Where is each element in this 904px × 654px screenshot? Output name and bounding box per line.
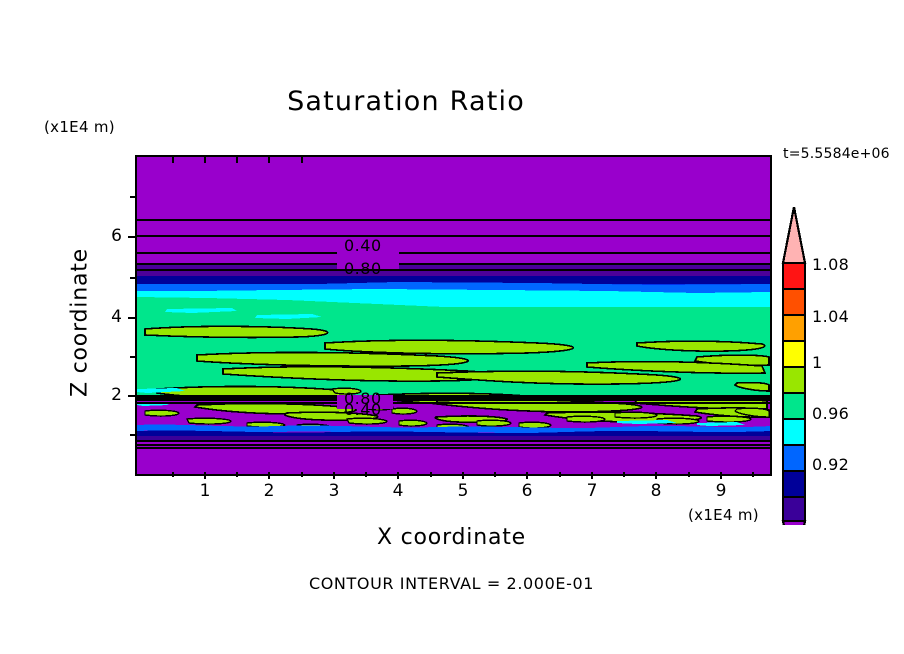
x-tick-minor bbox=[559, 472, 561, 477]
x-tick-label: 6 bbox=[512, 481, 542, 501]
colorbar-label: 1.04 bbox=[812, 307, 849, 326]
colorbar-under-arrow bbox=[783, 521, 805, 525]
x-tick-7 bbox=[591, 472, 593, 479]
x-tick-label: 9 bbox=[706, 481, 736, 501]
x-tick-minor bbox=[623, 472, 625, 477]
y-tick-label: 2 bbox=[96, 385, 122, 405]
x-tick-8 bbox=[655, 472, 657, 479]
x-axis-unit-label: (x1E4 m) bbox=[688, 506, 759, 524]
y-tick-minor bbox=[130, 196, 135, 198]
x-tick-minor bbox=[752, 472, 754, 477]
x-tick-minor bbox=[365, 472, 367, 477]
x-tick-3 bbox=[333, 472, 335, 479]
y-tick-label: 6 bbox=[96, 226, 122, 246]
page-title: Saturation Ratio bbox=[0, 86, 858, 117]
contour-label-upper-080: 0.80 bbox=[344, 259, 382, 278]
y-tick-4 bbox=[128, 317, 135, 319]
contour-label-upper-040: 0.40 bbox=[344, 236, 382, 255]
x-tick-minor bbox=[688, 472, 690, 477]
x-tick-minor bbox=[172, 472, 174, 477]
x-tick-5 bbox=[462, 472, 464, 479]
y-tick-2 bbox=[128, 395, 135, 397]
x-tick-top bbox=[301, 157, 303, 163]
contour-label-lower-040: 0.40 bbox=[344, 400, 382, 419]
y-tick-minor bbox=[130, 277, 135, 279]
y-axis-unit-label: (x1E4 m) bbox=[44, 118, 115, 136]
x-tick-label: 5 bbox=[448, 481, 478, 501]
colorbar-label: 1.08 bbox=[812, 255, 849, 274]
contour-plot-figure: Saturation Ratio (x1E4 m) (x1E4 m) t=5.5… bbox=[0, 0, 904, 654]
colorbar bbox=[781, 207, 809, 529]
x-tick-label: 3 bbox=[319, 481, 349, 501]
x-tick-label: 2 bbox=[254, 481, 284, 501]
x-tick-top bbox=[236, 157, 238, 163]
x-tick-6 bbox=[526, 472, 528, 479]
x-tick-9 bbox=[720, 472, 722, 479]
x-tick-minor bbox=[430, 472, 432, 477]
x-tick-4 bbox=[397, 472, 399, 479]
contour-field: 0.40 0.80 0.80 0.40 bbox=[137, 157, 770, 474]
x-tick-minor bbox=[236, 472, 238, 477]
colorbar-over-arrow bbox=[783, 207, 805, 263]
x-tick-label: 8 bbox=[641, 481, 671, 501]
x-tick-label: 4 bbox=[383, 481, 413, 501]
y-tick-label: 4 bbox=[96, 307, 122, 327]
colorbar-label: 0.92 bbox=[812, 455, 849, 474]
x-axis-title: X coordinate bbox=[135, 525, 768, 550]
x-tick-top bbox=[172, 157, 174, 163]
x-tick-top bbox=[204, 157, 206, 163]
x-tick-label: 7 bbox=[577, 481, 607, 501]
time-stamp-label: t=5.5584e+06 bbox=[783, 146, 890, 162]
contour-interval-caption: CONTOUR INTERVAL = 2.000E-01 bbox=[135, 574, 768, 593]
colorbar-label: 0.96 bbox=[812, 404, 849, 423]
y-tick-6 bbox=[128, 236, 135, 238]
y-axis-title: Z coordinate bbox=[68, 223, 93, 423]
y-tick-minor bbox=[130, 356, 135, 358]
plot-area: 0.40 0.80 0.80 0.40 bbox=[135, 155, 772, 476]
y-tick-minor bbox=[130, 434, 135, 436]
x-tick-top bbox=[268, 157, 270, 163]
x-tick-label: 1 bbox=[190, 481, 220, 501]
x-tick-1 bbox=[204, 472, 206, 479]
colorbar-label: 1 bbox=[812, 353, 823, 372]
x-tick-2 bbox=[268, 472, 270, 479]
x-tick-minor bbox=[301, 472, 303, 477]
x-tick-minor bbox=[494, 472, 496, 477]
